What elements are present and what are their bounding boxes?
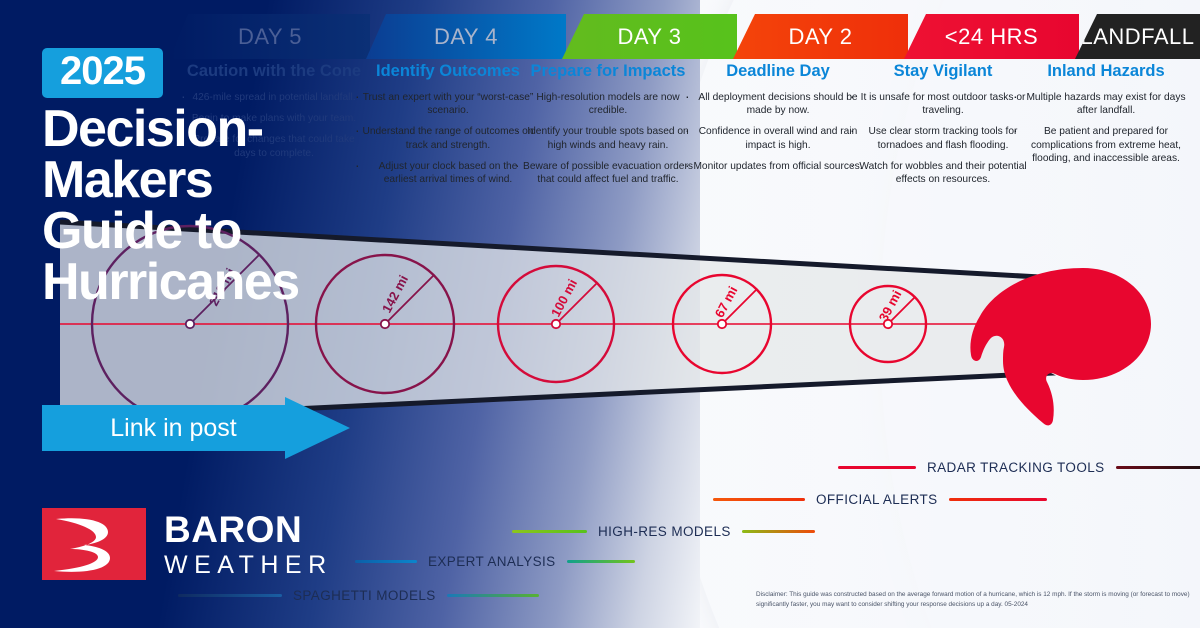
legend-label: HIGH-RES MODELS: [587, 524, 742, 539]
legend-line-right: [567, 560, 635, 563]
baron-logo-text: BARON WEATHER: [164, 511, 333, 578]
legend-line-left: [178, 594, 282, 597]
page-title: Decision- Makers Guide to Hurricanes: [42, 104, 372, 308]
title-line-3: Guide to: [42, 206, 372, 257]
logo-name-line-1: BARON: [164, 511, 333, 548]
title-line-4: Hurricanes: [42, 257, 372, 308]
legend-line-left: [355, 560, 417, 563]
disclaimer-text: Disclaimer: This guide was constructed b…: [756, 590, 1196, 609]
legend-line-right: [949, 498, 1047, 501]
legend-line-right: [447, 594, 539, 597]
legend-line-left: [713, 498, 805, 501]
legend-label: RADAR TRACKING TOOLS: [916, 460, 1116, 475]
baron-logo-mark-icon: [42, 508, 146, 580]
title-line-1: Decision-: [42, 104, 372, 155]
link-in-post-button[interactable]: Link in post: [42, 397, 350, 459]
legend-item-expert-analysis: EXPERT ANALYSIS: [355, 554, 635, 569]
legend-item-official-alerts: OFFICIAL ALERTS: [713, 492, 1047, 507]
legend-label: OFFICIAL ALERTS: [805, 492, 949, 507]
baron-weather-logo: BARON WEATHER: [42, 508, 333, 580]
legend-item-high-res-models: HIGH-RES MODELS: [512, 524, 815, 539]
year-badge: 2025: [42, 48, 163, 98]
legend-line-left: [838, 466, 916, 469]
link-in-post-label: Link in post: [42, 405, 287, 451]
title-block: 2025 Decision- Makers Guide to Hurricane…: [42, 48, 372, 308]
legend-item-spaghetti-models: SPAGHETTI MODELS: [178, 588, 539, 603]
legend-label: SPAGHETTI MODELS: [282, 588, 447, 603]
legend-item-radar-tracking-tools: RADAR TRACKING TOOLS: [838, 460, 1200, 475]
legend-line-left: [512, 530, 587, 533]
title-line-2: Makers: [42, 155, 372, 206]
legend-label: EXPERT ANALYSIS: [417, 554, 567, 569]
legend-line-right: [1116, 466, 1200, 469]
arrow-head-icon: [285, 397, 350, 459]
infographic-canvas: DAY 5 DAY 4 DAY 3 DAY 2 <24 HRS LANDFALL…: [0, 0, 1200, 628]
legend-line-right: [742, 530, 815, 533]
logo-name-line-2: WEATHER: [164, 553, 333, 578]
